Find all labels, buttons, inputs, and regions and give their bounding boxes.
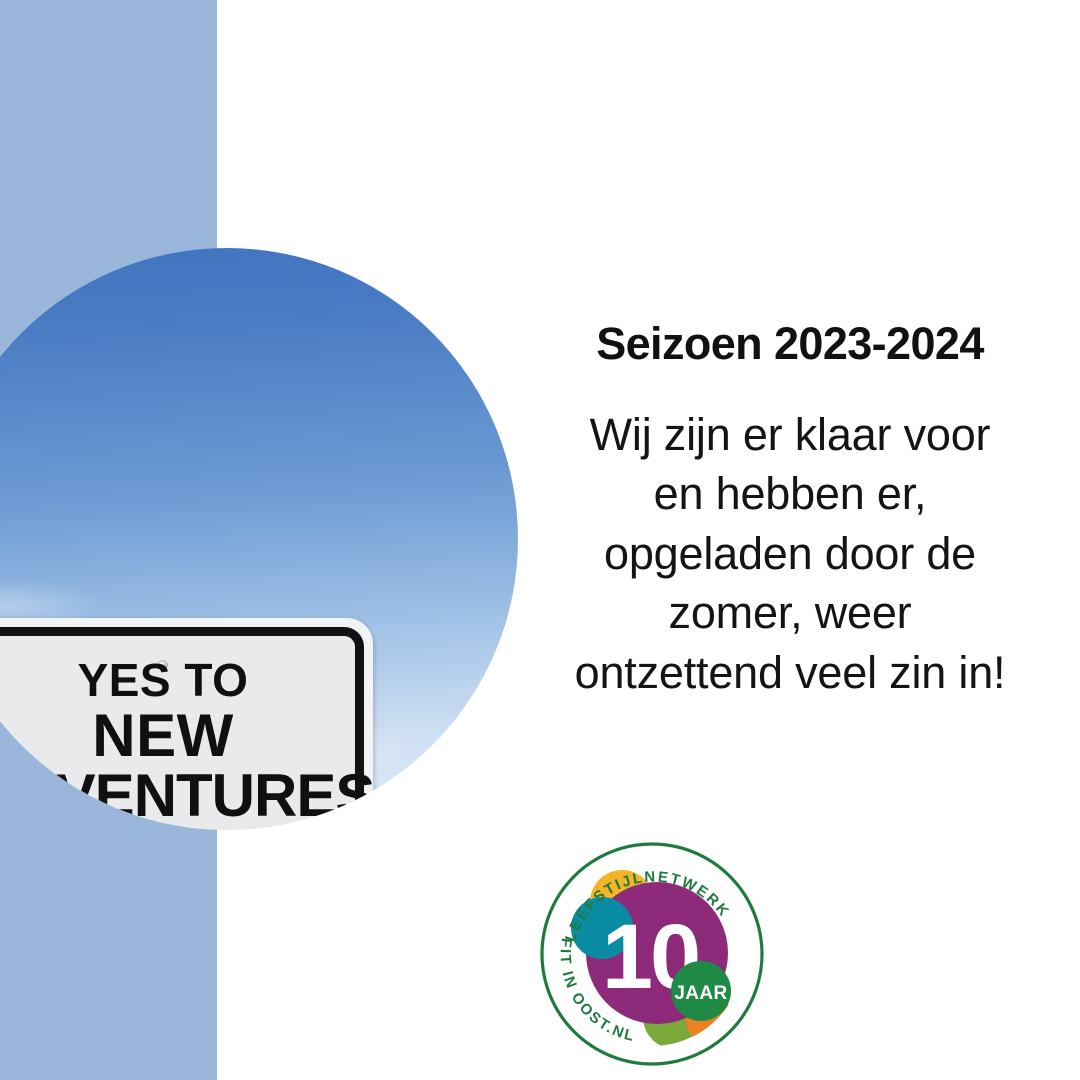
road-sign-photo: YES TO NEW ADVENTURES xyxy=(0,248,518,830)
logo-jaar-label: JAAR xyxy=(674,983,727,1004)
road-sign-text: YES TO NEW ADVENTURES xyxy=(0,658,355,825)
road-sign-face: YES TO NEW ADVENTURES xyxy=(0,627,364,830)
body-copy: Wij zijn er klaar voor en hebben er, opg… xyxy=(505,405,1075,702)
sign-line-2: NEW xyxy=(0,707,355,765)
body-line-2: en hebben er, xyxy=(505,464,1075,523)
body-line-5: ontzettend veel zin in! xyxy=(505,643,1075,702)
arrow-right-icon xyxy=(105,828,221,830)
body-line-4: zomer, weer xyxy=(505,583,1075,642)
body-line-1: Wij zijn er klaar voor xyxy=(505,405,1075,464)
body-line-3: opgeladen door de xyxy=(505,524,1075,583)
fit-in-oost-10-jaar-logo: 10 JAAR LEEFSTIJLNETWERK FIT IN OOST.NL xyxy=(538,840,766,1068)
page-title: Seizoen 2023-2024 xyxy=(520,318,1060,370)
poster-canvas: YES TO NEW ADVENTURES Seizoen 2023-2024 … xyxy=(0,0,1080,1080)
sign-line-3: ADVENTURES xyxy=(0,767,355,825)
sign-line-1: YES TO xyxy=(0,658,355,703)
road-sign-board: YES TO NEW ADVENTURES xyxy=(0,618,373,830)
